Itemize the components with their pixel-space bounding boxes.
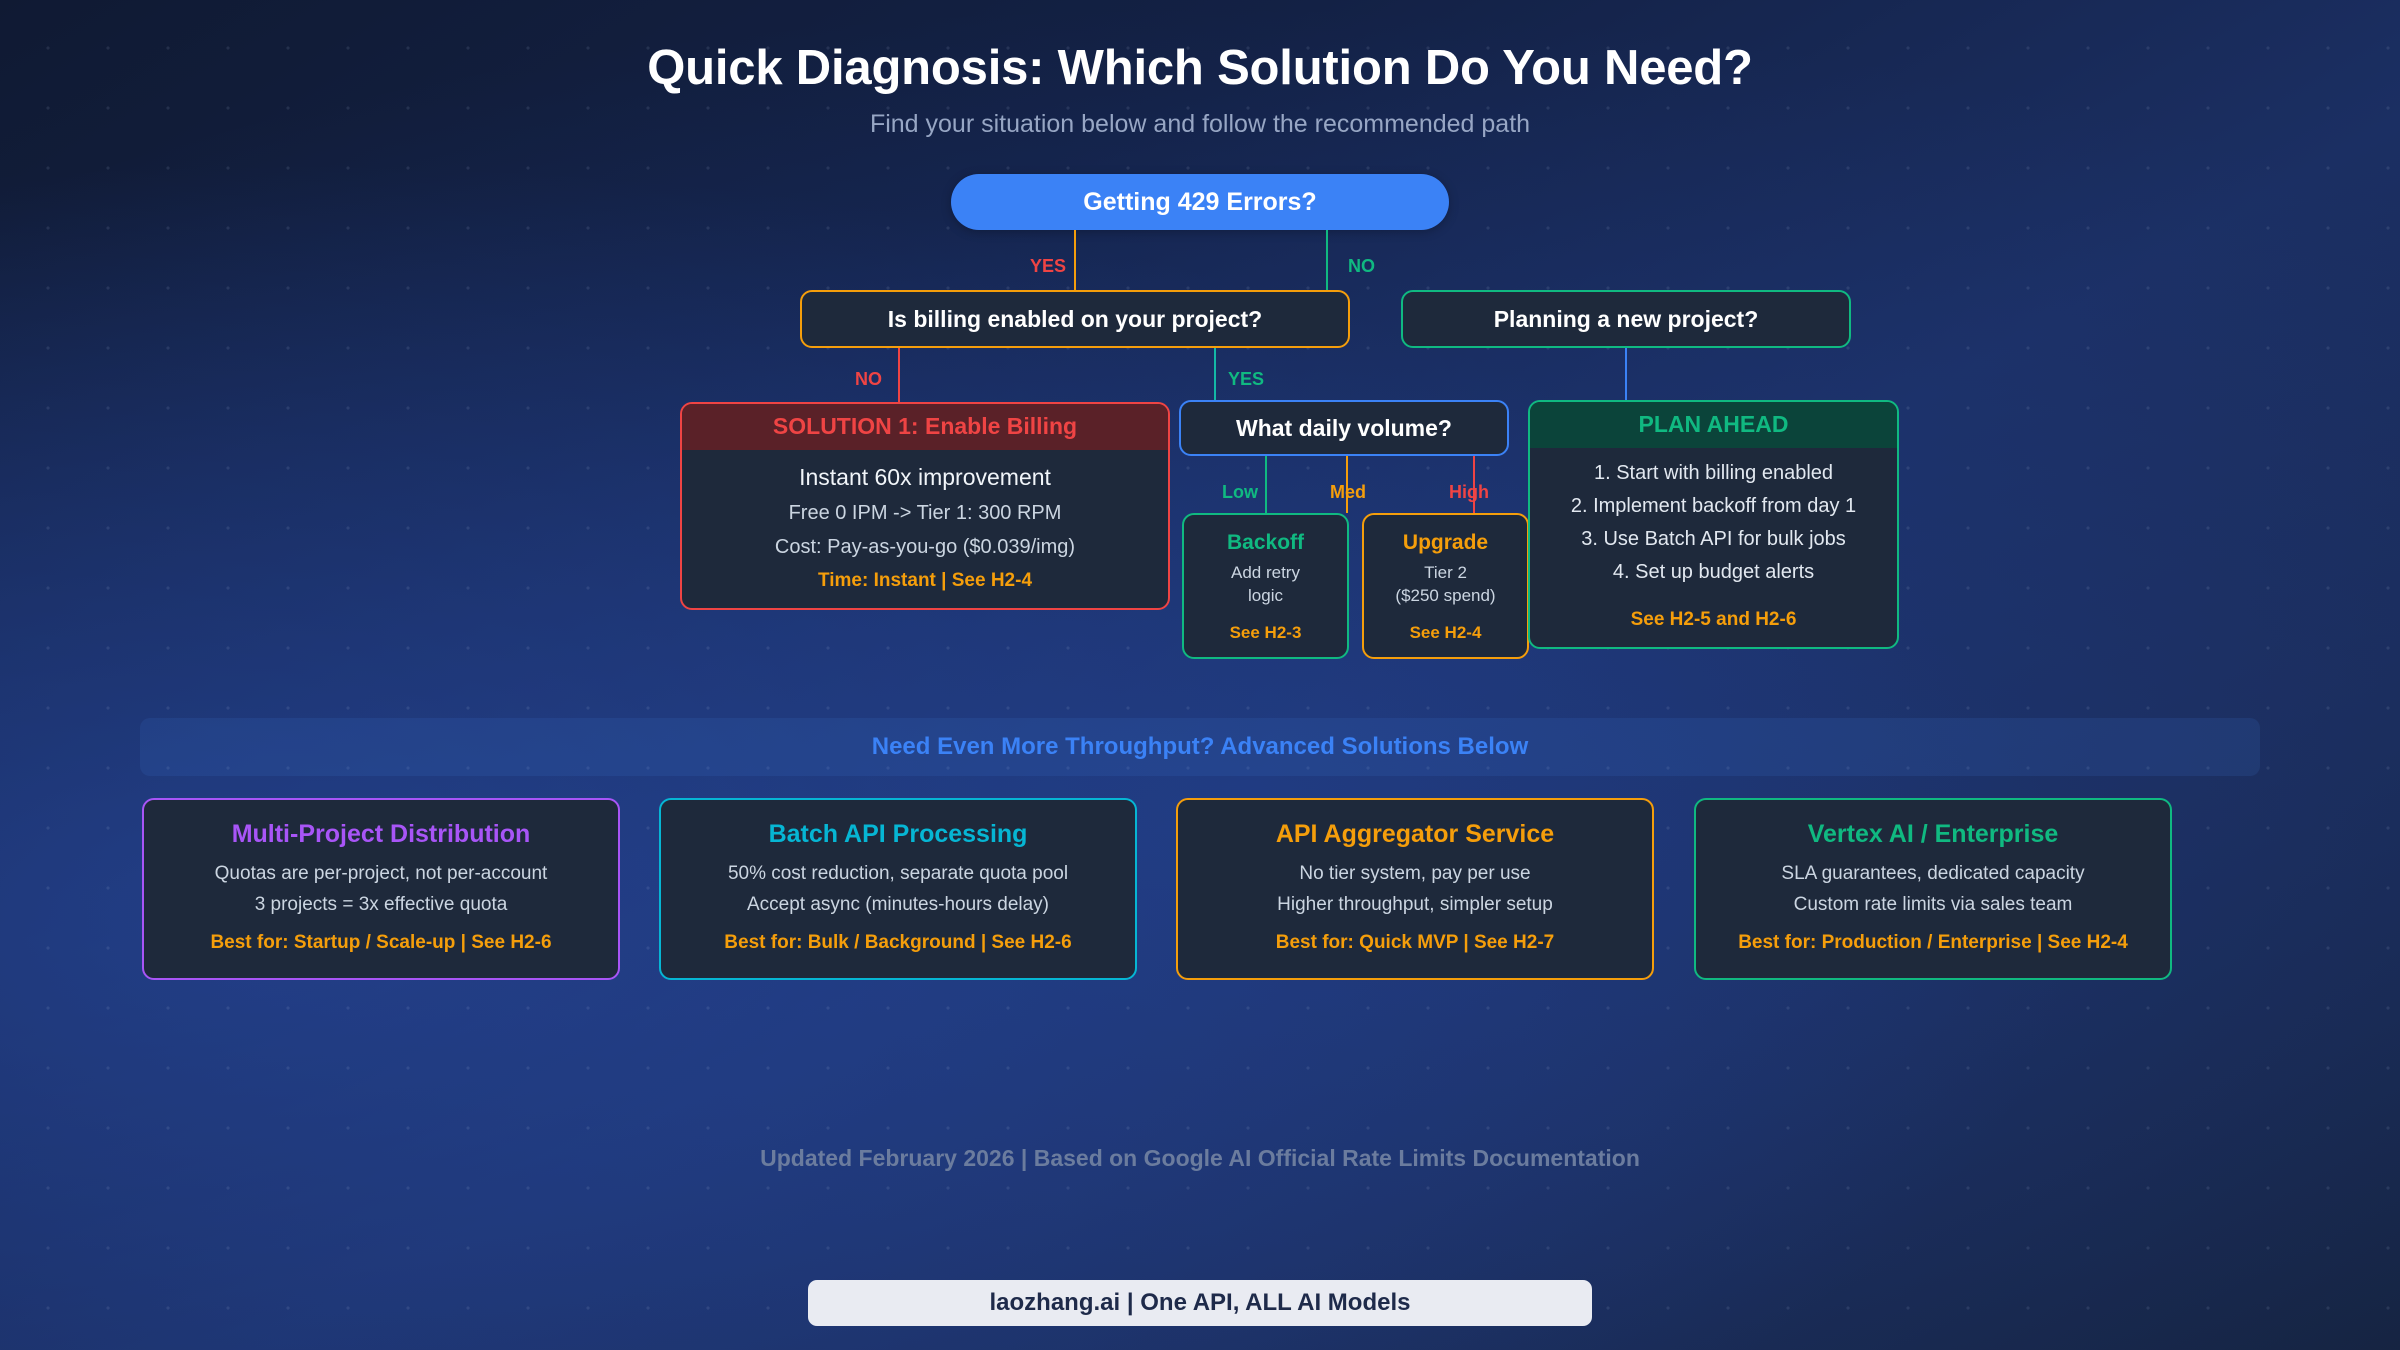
advanced-card-api-aggregator[interactable]: API Aggregator Service No tier system, p…	[1176, 798, 1654, 980]
advanced-card-vertex-ai[interactable]: Vertex AI / Enterprise SLA guarantees, d…	[1694, 798, 2172, 980]
advanced-solutions-banner: Need Even More Throughput? Advanced Solu…	[140, 718, 2260, 776]
branch-label-no: NO	[1348, 256, 1375, 277]
plan-ahead-step: 2. Implement backoff from day 1	[1546, 495, 1881, 518]
infographic-canvas: Quick Diagnosis: Which Solution Do You N…	[0, 0, 2400, 1350]
branch-label-high: High	[1449, 482, 1489, 503]
plan-ahead-step: 4. Set up budget alerts	[1546, 561, 1881, 584]
option-backoff-card[interactable]: Backoff Add retry logic See H2-3	[1182, 513, 1349, 659]
question-planning-new-project[interactable]: Planning a new project?	[1401, 290, 1851, 348]
advanced-card-line: SLA guarantees, dedicated capacity	[1714, 863, 2152, 885]
option-footer: See H2-4	[1364, 623, 1527, 643]
solution-enable-billing-card[interactable]: SOLUTION 1: Enable Billing Instant 60x i…	[680, 402, 1170, 610]
option-upgrade-card[interactable]: Upgrade Tier 2 ($250 spend) See H2-4	[1362, 513, 1529, 659]
flow-root-node[interactable]: Getting 429 Errors?	[951, 174, 1449, 230]
footer-note: Updated February 2026 | Based on Google …	[0, 1145, 2400, 1172]
advanced-card-line: Accept async (minutes-hours delay)	[679, 894, 1117, 916]
plan-ahead-body: 1. Start with billing enabled 2. Impleme…	[1530, 448, 1897, 647]
connector-root-to-planning	[1326, 230, 1328, 290]
advanced-card-line: No tier system, pay per use	[1196, 863, 1634, 885]
advanced-card-line: Higher throughput, simpler setup	[1196, 894, 1634, 916]
connector-billing-to-volume	[1214, 348, 1216, 400]
page-title: Quick Diagnosis: Which Solution Do You N…	[0, 40, 2400, 96]
page-subtitle: Find your situation below and follow the…	[0, 110, 2400, 139]
advanced-card-line: Custom rate limits via sales team	[1714, 894, 2152, 916]
option-line: Add retry	[1194, 562, 1337, 585]
solution-detail-line: Cost: Pay-as-you-go ($0.039/img)	[698, 536, 1152, 559]
advanced-card-footer: Best for: Quick MVP | See H2-7	[1178, 932, 1652, 954]
option-line: ($250 spend)	[1374, 585, 1517, 608]
plan-ahead-heading: PLAN AHEAD	[1530, 402, 1897, 448]
branch-label-yes: YES	[1030, 256, 1066, 277]
plan-ahead-step: 3. Use Batch API for bulk jobs	[1546, 528, 1881, 551]
connector-planning-to-planahead	[1625, 348, 1627, 400]
advanced-card-title: Multi-Project Distribution	[162, 820, 600, 849]
connector-billing-to-solution1	[898, 348, 900, 402]
advanced-card-batch-api[interactable]: Batch API Processing 50% cost reduction,…	[659, 798, 1137, 980]
plan-ahead-card[interactable]: PLAN AHEAD 1. Start with billing enabled…	[1528, 400, 1899, 649]
option-line: logic	[1194, 585, 1337, 608]
connector-root-to-billing	[1074, 230, 1076, 290]
solution-card-body: Instant 60x improvement Free 0 IPM -> Ti…	[682, 450, 1168, 608]
brand-bar[interactable]: laozhang.ai | One API, ALL AI Models	[808, 1280, 1592, 1326]
branch-label-billing-no: NO	[855, 369, 882, 390]
advanced-card-line: 3 projects = 3x effective quota	[162, 894, 600, 916]
branch-label-low: Low	[1222, 482, 1258, 503]
advanced-card-footer: Best for: Startup / Scale-up | See H2-6	[144, 932, 618, 954]
advanced-card-multi-project[interactable]: Multi-Project Distribution Quotas are pe…	[142, 798, 620, 980]
advanced-card-footer: Best for: Production / Enterprise | See …	[1696, 932, 2170, 954]
branch-label-med: Med	[1330, 482, 1366, 503]
advanced-card-line: Quotas are per-project, not per-account	[162, 863, 600, 885]
connector-volume-low	[1265, 456, 1267, 513]
option-title: Backoff	[1194, 531, 1337, 555]
question-billing-enabled[interactable]: Is billing enabled on your project?	[800, 290, 1350, 348]
advanced-card-title: Vertex AI / Enterprise	[1714, 820, 2152, 849]
solution-card-footer: Time: Instant | See H2-4	[698, 570, 1152, 592]
plan-ahead-footer: See H2-5 and H2-6	[1546, 609, 1881, 631]
solution-card-heading: SOLUTION 1: Enable Billing	[682, 404, 1168, 450]
plan-ahead-step: 1. Start with billing enabled	[1546, 462, 1881, 485]
advanced-card-line: 50% cost reduction, separate quota pool	[679, 863, 1117, 885]
option-line: Tier 2	[1374, 562, 1517, 585]
option-footer: See H2-3	[1184, 623, 1347, 643]
advanced-card-title: API Aggregator Service	[1196, 820, 1634, 849]
branch-label-billing-yes: YES	[1228, 369, 1264, 390]
solution-detail-line: Free 0 IPM -> Tier 1: 300 RPM	[698, 502, 1152, 525]
solution-lead-line: Instant 60x improvement	[698, 464, 1152, 491]
advanced-card-title: Batch API Processing	[679, 820, 1117, 849]
question-daily-volume[interactable]: What daily volume?	[1179, 400, 1509, 456]
option-title: Upgrade	[1374, 531, 1517, 555]
advanced-card-footer: Best for: Bulk / Background | See H2-6	[661, 932, 1135, 954]
